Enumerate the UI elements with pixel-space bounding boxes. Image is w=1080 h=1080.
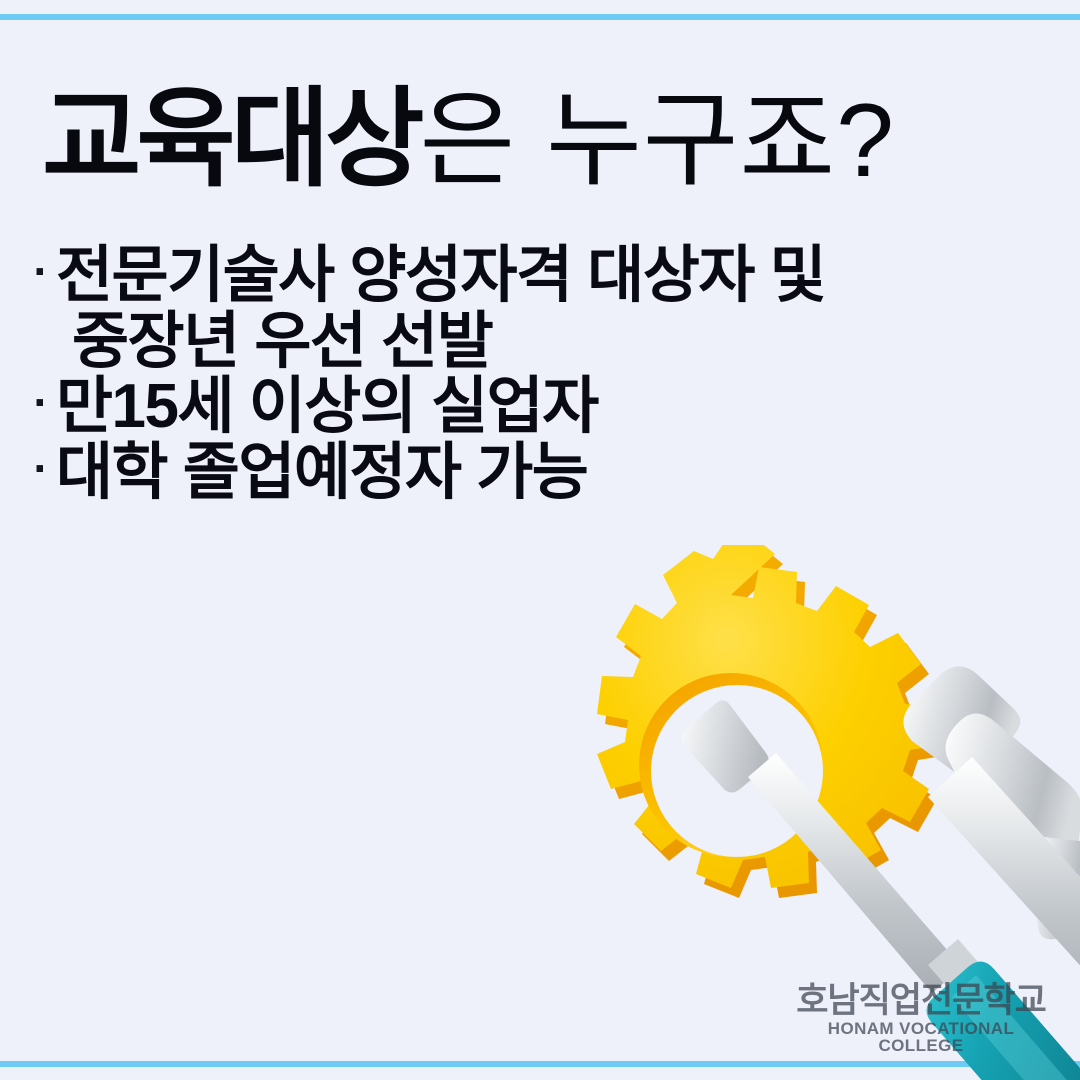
bullet-dot-icon: · bbox=[26, 440, 56, 498]
page-title: 교육대상은 누구죠? bbox=[42, 85, 895, 193]
page-title-emphasis: 교육대상 bbox=[42, 78, 419, 199]
gear-shape bbox=[597, 545, 949, 898]
list-item-label: 대학 졸업예정자 가능 bbox=[56, 440, 986, 506]
bullet-dot-icon: · bbox=[26, 374, 56, 432]
list-item: · 대학 졸업예정자 가능 bbox=[26, 440, 986, 506]
page-title-rest: 은 누구죠? bbox=[419, 83, 894, 199]
bullet-dot-icon: · bbox=[26, 243, 56, 301]
list-item: 중장년 우선 선발 bbox=[26, 309, 986, 375]
top-accent-rule bbox=[0, 14, 1080, 20]
gear-screwdriver-hammer-icon bbox=[460, 545, 1080, 1080]
list-item: · 전문기술사 양성자격 대상자 및 bbox=[26, 243, 986, 309]
list-item: · 만15세 이상의 실업자 bbox=[26, 374, 986, 440]
list-item-label: 만15세 이상의 실업자 bbox=[56, 374, 986, 440]
list-item-label: 중장년 우선 선발 bbox=[56, 309, 986, 375]
poster-canvas: 교육대상은 누구죠? · 전문기술사 양성자격 대상자 및 중장년 우선 선발 … bbox=[0, 0, 1080, 1080]
list-item-label: 전문기술사 양성자격 대상자 및 bbox=[56, 243, 986, 309]
eligibility-list: · 전문기술사 양성자격 대상자 및 중장년 우선 선발 · 만15세 이상의 … bbox=[26, 243, 986, 506]
